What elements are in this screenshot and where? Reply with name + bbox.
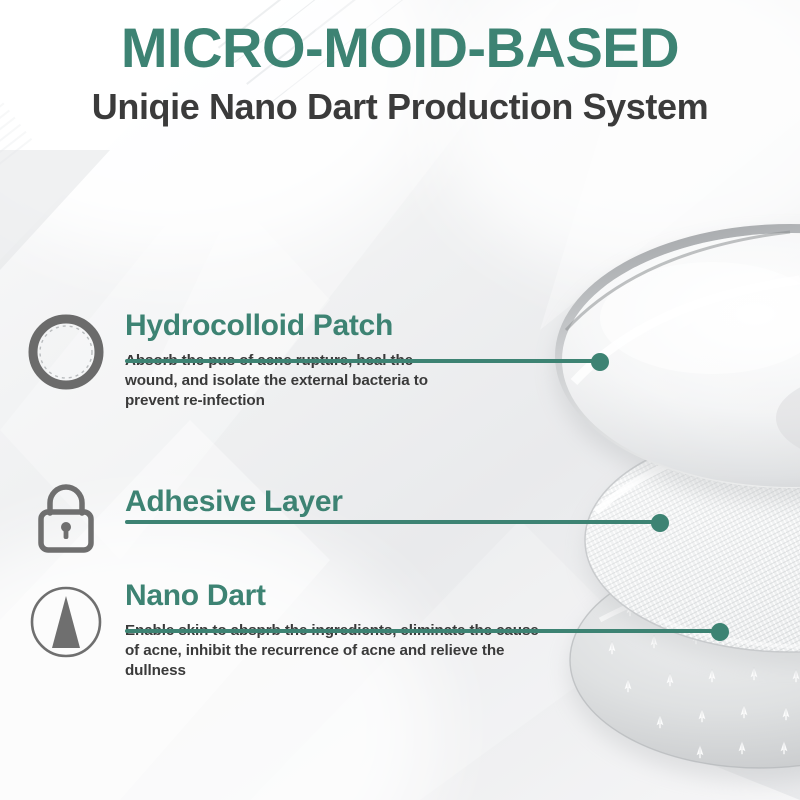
connector-nano-dart: [125, 623, 729, 641]
connector-dot: [651, 514, 669, 532]
page-title: MICRO-MOID-BASED: [0, 20, 800, 76]
stripe-panel-upper-left: [0, 60, 130, 523]
feature-hydrocolloid-patch[interactable]: Hydrocolloid Patch Absorb the pus of acn…: [0, 310, 800, 450]
connector-hydrocolloid-patch: [125, 353, 609, 371]
dart-icon: [28, 584, 104, 660]
connector-dot: [711, 623, 729, 641]
feature-nano-dart[interactable]: Nano Dart Enable skin to absprb the ingr…: [0, 580, 800, 710]
connector-adhesive-layer: [125, 514, 669, 532]
product-infographic-poster: MICRO-MOID-BASED Uniqie Nano Dart Produc…: [0, 0, 800, 800]
feature-adhesive-layer[interactable]: Adhesive Layer: [0, 478, 800, 568]
feature-title: Nano Dart: [125, 580, 545, 612]
feature-title: Adhesive Layer: [125, 486, 460, 518]
page-subtitle: Uniqie Nano Dart Production System: [0, 86, 800, 128]
feature-title: Hydrocolloid Patch: [125, 310, 460, 342]
connector-dot: [591, 353, 609, 371]
ring-icon: [28, 314, 104, 390]
poster-header: MICRO-MOID-BASED Uniqie Nano Dart Produc…: [0, 20, 800, 128]
lock-icon: [28, 478, 104, 554]
